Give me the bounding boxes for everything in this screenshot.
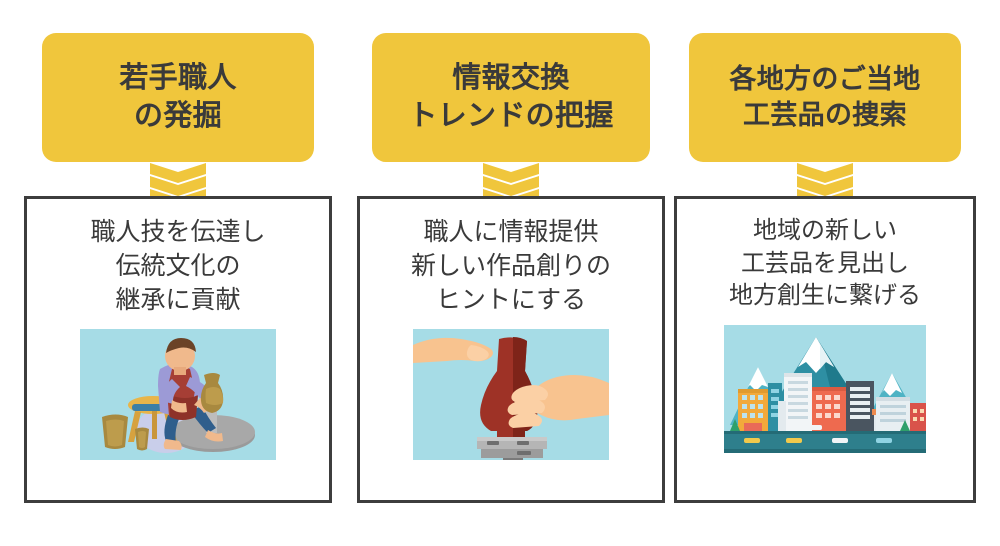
potter-at-wheel-illustration bbox=[80, 329, 276, 460]
infographic-column-1: 若手職人 の発掘 職人技を伝達し 伝統文化の 継承に貢献 bbox=[22, 0, 334, 546]
outcome-card-2: 職人に情報提供 新しい作品創りの ヒントにする bbox=[357, 196, 665, 503]
infographic-canvas: 若手職人 の発掘 職人技を伝達し 伝統文化の 継承に貢献 bbox=[0, 0, 1000, 546]
infographic-column-2: 情報交換 トレンドの把握 職人に情報提供 新しい作品創りの ヒントにする bbox=[355, 0, 667, 546]
goal-header-text-3: 各地方のご当地 工芸品の捜索 bbox=[729, 62, 920, 132]
outcome-text-1: 職人技を伝達し 伝統文化の 継承に貢献 bbox=[90, 215, 265, 317]
hands-shaping-vase-illustration bbox=[413, 329, 609, 460]
city-with-mountains-illustration bbox=[724, 325, 926, 453]
goal-header-text-1: 若手職人 の発掘 bbox=[119, 60, 236, 135]
goal-header-text-2: 情報交換 トレンドの把握 bbox=[408, 60, 613, 135]
goal-header-card-3: 各地方のご当地 工芸品の捜索 bbox=[689, 33, 961, 162]
outcome-card-3: 地域の新しい 工芸品を見出し 地方創生に繋げる bbox=[674, 196, 976, 503]
outcome-text-3: 地域の新しい 工芸品を見出し 地方創生に繋げる bbox=[729, 215, 921, 313]
outcome-text-2: 職人に情報提供 新しい作品創りの ヒントにする bbox=[411, 215, 611, 317]
goal-header-card-1: 若手職人 の発掘 bbox=[42, 33, 314, 162]
goal-header-card-2: 情報交換 トレンドの把握 bbox=[372, 33, 650, 162]
infographic-column-3: 各地方のご当地 工芸品の捜索 地域の新しい 工芸品を見出し 地方創生に繋げる bbox=[672, 0, 978, 546]
outcome-card-1: 職人技を伝達し 伝統文化の 継承に貢献 bbox=[24, 196, 332, 503]
